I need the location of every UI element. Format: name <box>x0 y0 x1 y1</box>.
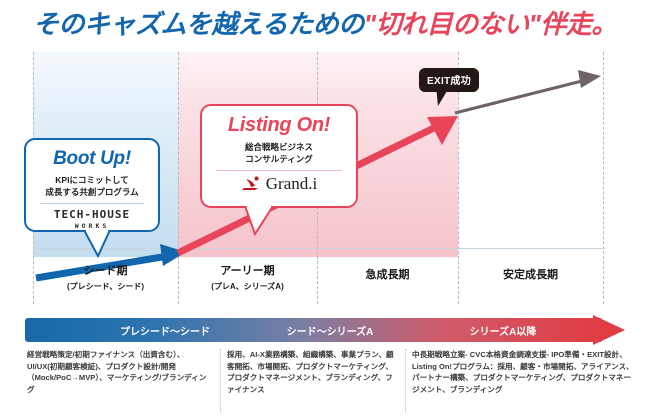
stage-detail-column-3: 中長期戦略立案‐ CVC本格資金調達支援‐ IPO準備・EXIT設計、Listi… <box>412 349 634 395</box>
column-divider-1 <box>220 349 221 413</box>
listing-on-callout-tail <box>245 206 289 238</box>
boot-up-callout-tail <box>84 230 124 260</box>
tech-house-works-logo: TECH-HOUSE WORKS <box>26 208 158 230</box>
column-divider-2 <box>405 349 406 413</box>
tech-house-logo-main: TECH-HOUSE <box>26 208 158 221</box>
stage-label-stable-name: 安定成長期 <box>458 266 603 282</box>
stage-detail-column-1: 経営戦略策定/初期ファイナンス（出資含む）、UI/UX(初期顧客検証)、プロダク… <box>27 349 212 395</box>
listing-on-heading: Listing On! <box>202 114 356 137</box>
stage-label-seed-detail: (プレシード、シード) <box>33 281 178 292</box>
grand-i-mark-icon <box>241 176 261 192</box>
stage-label-early-name: アーリー期 <box>178 262 317 278</box>
listing-on-divider <box>216 170 342 171</box>
stage-label-rapid-name: 急成長期 <box>317 266 458 282</box>
boot-up-line1: KPIにコミットして <box>26 174 158 186</box>
grand-i-logo-text: Grand.i <box>266 174 317 194</box>
callout-listing-on[interactable]: Listing On! 総合戦略ビジネス コンサルティング Grand.i <box>200 104 358 208</box>
callout-boot-up[interactable]: Boot Up! KPIにコミットして 成長する共創プログラム TECH-HOU… <box>24 138 160 232</box>
stage-label-seed: シード期 (プレシード、シード) <box>33 262 178 292</box>
listing-on-line2: コンサルティング <box>202 153 356 165</box>
stage-label-seed-name: シード期 <box>33 262 178 278</box>
boot-up-divider <box>40 203 144 204</box>
stage-label-stable: 安定成長期 <box>458 266 603 282</box>
phase-band-label-2: シード〜シリーズA <box>230 323 430 338</box>
stage-label-rapid: 急成長期 <box>317 266 458 282</box>
stage-detail-column-2: 採用、AI-X業務構築、組織構築、事業プラン、顧客開拓、市場開拓、プロダクトマー… <box>227 349 399 395</box>
stage-label-row: シード期 (プレシード、シード) アーリー期 (プレA、シリーズA) 急成長期 … <box>33 262 605 302</box>
stage-label-early-detail: (プレA、シリーズA) <box>178 281 317 292</box>
boot-up-line2: 成長する共創プログラム <box>26 186 158 198</box>
page-title-blue: そのキャズムを越えるための <box>33 9 364 39</box>
grand-i-logo: Grand.i <box>202 174 356 194</box>
boot-up-heading: Boot Up! <box>26 148 158 170</box>
phase-band-label-3: シリーズA以降 <box>403 323 603 338</box>
listing-on-line1: 総合戦略ビジネス <box>202 141 356 153</box>
exit-badge-tail <box>424 86 450 110</box>
page-title: そのキャズムを越えるための"切れ目のない"伴走。 <box>0 4 650 41</box>
stage-label-early: アーリー期 (プレA、シリーズA) <box>178 262 317 292</box>
tech-house-logo-sub: WORKS <box>26 222 158 230</box>
page-title-red: "切れ目のない"伴走。 <box>364 9 617 39</box>
phase-gradient-band: プレシード〜シード シード〜シリーズA シリーズA以降 <box>25 318 625 342</box>
